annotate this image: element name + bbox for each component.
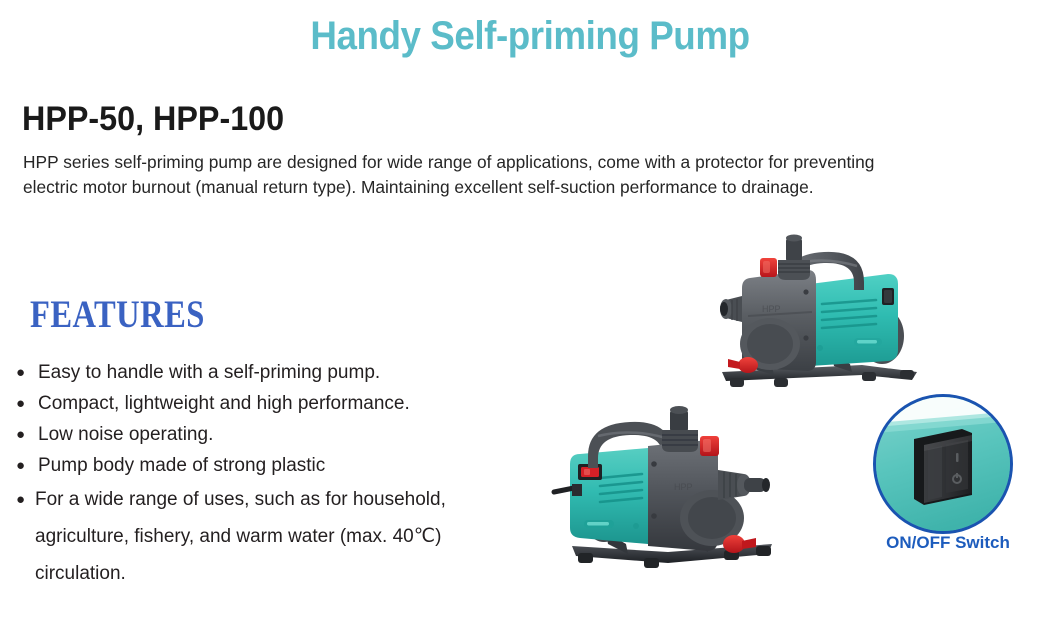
switch-inset-circle (873, 394, 1013, 534)
svg-text:HPP: HPP (674, 482, 693, 492)
list-item-label: For a wide range of uses, such as for ho… (35, 489, 446, 584)
switch-inset-photo (873, 394, 1013, 534)
product-image-pump-left-view: HPP (548, 404, 798, 584)
list-item: ● Low noise operating. (16, 419, 516, 450)
list-item: ● For a wide range of uses, such as for … (16, 481, 515, 592)
list-item-label: Pump body made of strong plastic (38, 455, 325, 476)
product-image-pump-right-view: HPP (712, 226, 927, 396)
bullet-icon: ● (16, 481, 25, 518)
bullet-icon: ● (16, 419, 25, 450)
list-item-label: Easy to handle with a self-priming pump. (38, 362, 380, 383)
product-description: HPP series self-priming pump are designe… (23, 150, 874, 200)
features-list: ● Easy to handle with a self-priming pum… (16, 357, 516, 592)
bullet-icon: ● (16, 388, 25, 419)
page-title: Handy Self-priming Pump (42, 14, 1017, 59)
list-item-label: Low noise operating. (38, 424, 213, 445)
list-item: ● Compact, lightweight and high performa… (16, 388, 516, 419)
features-heading: FEATURES (30, 292, 205, 338)
product-model-heading: HPP-50, HPP-100 (22, 100, 284, 139)
switch-inset-caption: ON/OFF Switch (873, 533, 1023, 553)
bullet-icon: ● (16, 450, 25, 481)
list-item: ● Pump body made of strong plastic (16, 450, 516, 481)
bullet-icon: ● (16, 357, 25, 388)
list-item-label: Compact, lightweight and high performanc… (38, 393, 410, 414)
list-item: ● Easy to handle with a self-priming pum… (16, 357, 516, 388)
svg-text:HPP: HPP (762, 304, 781, 314)
